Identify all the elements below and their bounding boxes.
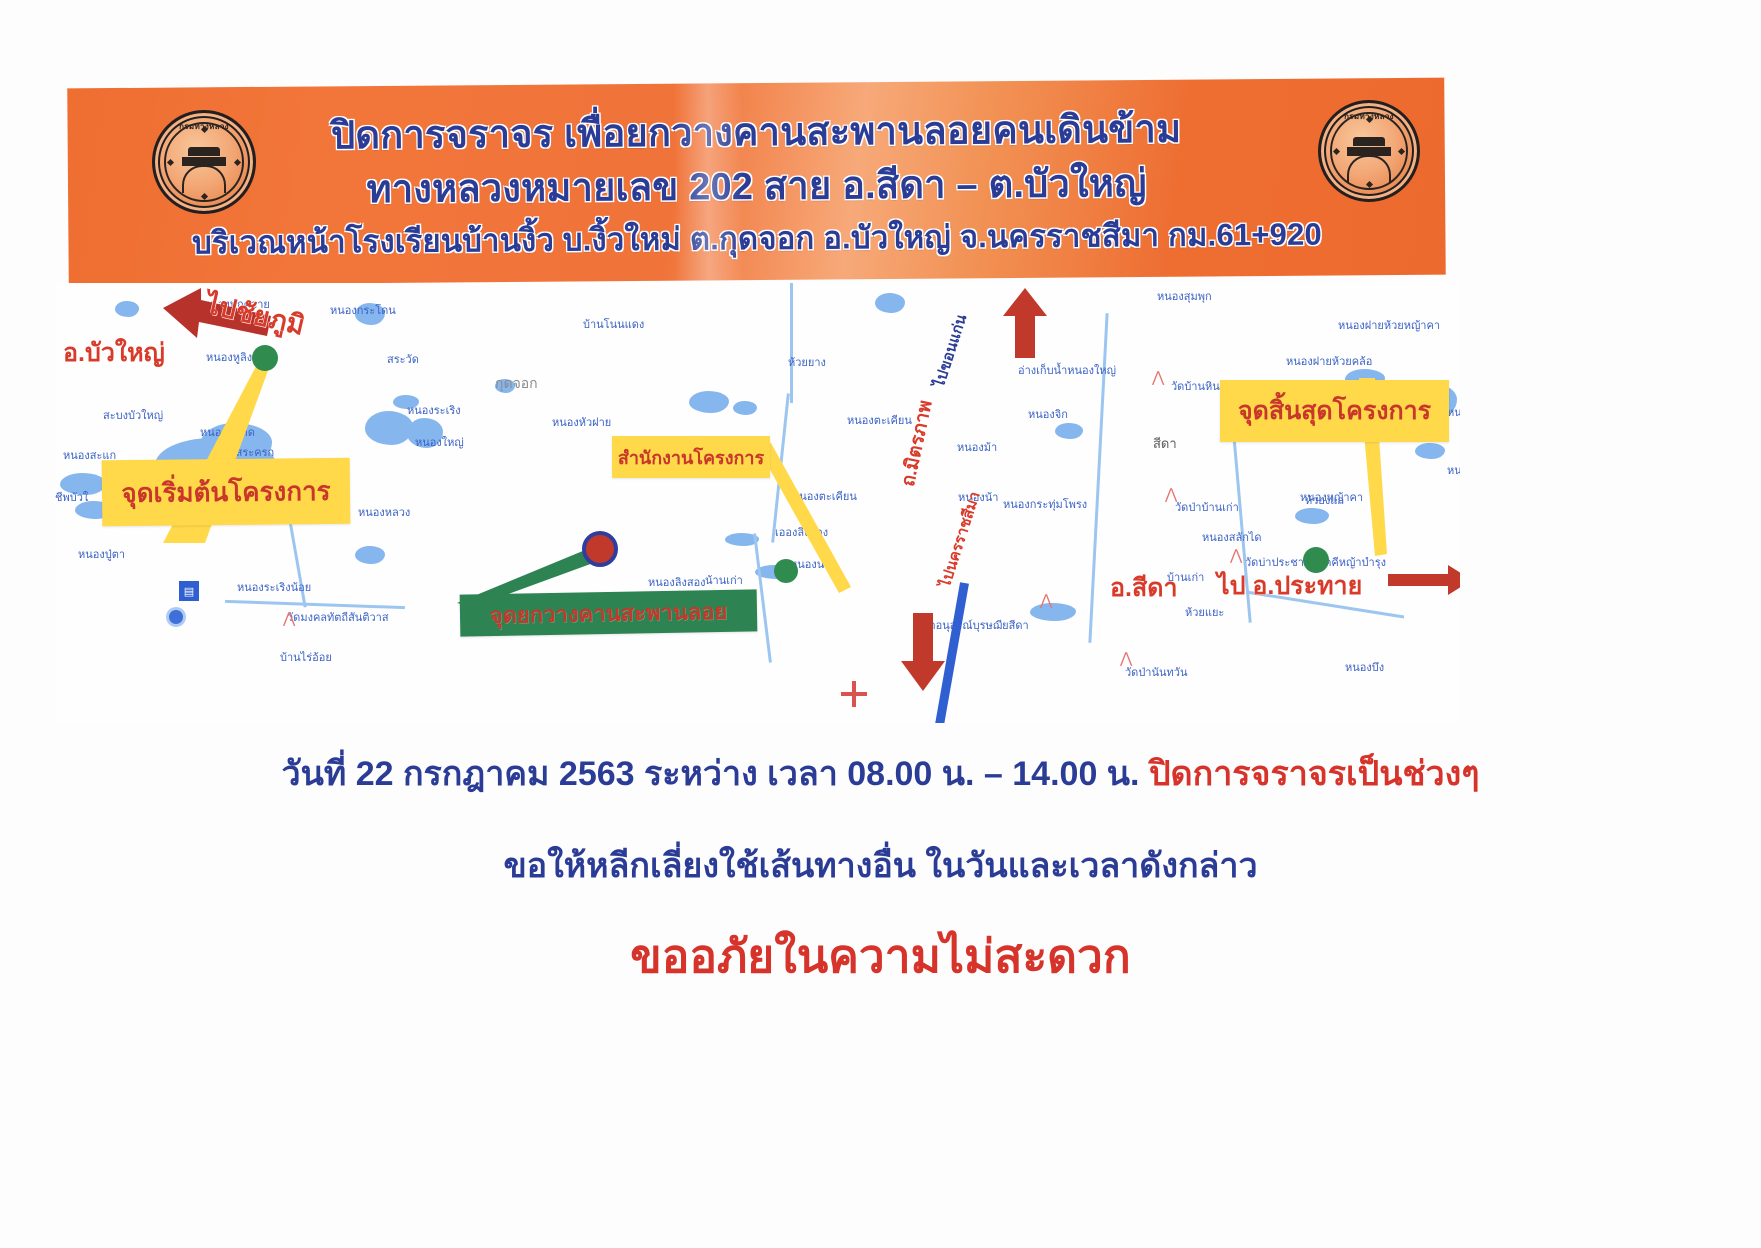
lake [689,391,729,413]
map-label: บ้านไร่อ้อย [280,648,332,666]
lake [875,293,905,313]
temple-icon: ⋀ [1040,593,1052,608]
map-label: หนองกระโดน [330,301,396,319]
seal-arch-icon [1347,155,1391,183]
arrow-down-icon [893,613,953,691]
poi-icon [169,610,183,624]
direction-label-prathai: ไป อ.ประทาย [1217,566,1362,606]
temple-icon: ⋀ [1120,651,1132,666]
map-label: หนองลิงสอง [648,573,706,591]
map-label: หนองพะ [1447,461,1460,479]
map-label: ห้วยยาง [788,353,826,371]
banner-line-1: ปิดการจราจร เพื่อยกวางคานสะพานลอยคนเดินข… [331,104,1182,161]
map-label: หนองสุมพุก [1157,287,1212,305]
map-label: หนองหัวฝาย [552,413,611,431]
department-of-highways-seal-icon: กรมทางหลวง [152,110,256,214]
callout-project-start: จุดเริ่มต้นโครงการ [102,458,351,527]
map-label: หนองฝายห้วยหญ้าคา [1338,316,1440,334]
map-label: สระวัด [387,350,419,368]
map-label: หนองจิก [1028,405,1068,423]
footer-schedule-line: วันที่ 22 กรกฎาคม 2563 ระหว่าง เวลา 08.0… [0,746,1761,800]
banner-text-block: ปิดการจราจร เพื่อยกวางคานสะพานลอยคนเดินข… [67,78,1446,286]
map-label: หนองตะเคียน [847,411,912,429]
callout-bridge-beam-point: จุดยกวางคานสะพานลอย [460,589,758,636]
callout-project-end: จุดสิ้นสุดโครงการ [1220,380,1449,442]
lake [733,401,757,415]
map-label: กุดจอก [495,373,538,395]
map-label: หนองม้า [957,438,997,456]
map-label: หนองบึง [1345,658,1384,676]
lake [1055,423,1083,439]
bridge-beam-node [582,531,618,567]
map-label: หนองระเริงน้อย [237,578,311,596]
lake [355,546,385,564]
map-label: หนองหลวง [358,503,410,521]
lake [1415,443,1445,459]
map-label: สีดา [1153,433,1177,454]
footer-date-time: วันที่ 22 กรกฎาคม 2563 ระหว่าง เวลา 08.0… [282,755,1140,793]
lake [365,411,413,445]
banner-line-2: ทางหลวงหมายเลข 202 สาย อ.สีดา – ต.บัวใหญ… [366,158,1146,214]
map-label: น้านเก่า [705,571,743,589]
lake [115,301,139,317]
temple-icon: ⋀ [283,611,295,626]
district-label-sida: อ.สีดา [1110,568,1178,608]
footer-apology-line: ขออภัยในความไม่สะดวก [0,920,1761,993]
callout-project-office: สำนักงานโครงการ [612,436,770,478]
banner-line-3: บริเวณหน้าโรงเรียนบ้านงิ้ว บ.งิ้วใหม่ ต.… [192,213,1322,264]
direction-label-khonkaen: ไปขอนแก่น [927,311,973,390]
footer-advice-line: ขอให้หลีกเลี่ยงใช้เส้นทางอื่น ในวันและเว… [0,838,1761,892]
temple-icon: ⋀ [1152,370,1164,385]
map-label: วัดป่าบ้านเก่า [1175,498,1239,516]
temple-icon: ⋀ [1165,487,1177,502]
crossing-marker-icon [841,681,867,707]
river [790,283,793,403]
map-label: หนองปู่ตา [78,545,125,563]
seal-arch-icon [182,165,226,193]
district-label-buayai: อ.บัวใหญ่ [63,333,165,373]
temple-icon: ⋀ [1230,548,1242,563]
direction-label-korat: ไปนครราชสีมา [933,488,987,590]
footer-closure-note: ปิดการจราจรเป็นช่วงๆ [1140,755,1480,793]
map-label: วัดมงคลทัตถีสันติวาส [287,608,389,626]
map-label: ชีพบัวใ [55,488,88,506]
header-banner: ปิดการจราจร เพื่อยกวางคานสะพานลอยคนเดินข… [67,78,1446,286]
map-label: อ่างเก็บน้ำหนองใหญ่ [1018,361,1116,379]
map-label: หนองฝายห้วยคล้อ [1286,352,1372,370]
project-office-node [774,559,798,583]
department-of-highways-seal-icon-right: กรมทางหลวง [1318,100,1420,202]
map-label: หนองระเริง [407,401,461,419]
station-icon: ▤ [179,581,199,601]
map-label: วัดป่านันทวัน [1125,663,1187,681]
map-label: หนองสลักได [1202,528,1262,546]
leader-line-office [755,443,875,593]
lake [1295,508,1329,524]
arrow-right-icon [1388,565,1460,595]
map-label: บ้านโนนแดง [583,315,644,333]
project-start-node [252,345,278,371]
map-label: หนองใหญ่ [415,433,464,451]
map-label: หนองกระทุ่มโพรง [1003,495,1087,513]
arrow-up-icon [995,288,1055,358]
lake [1030,603,1076,621]
